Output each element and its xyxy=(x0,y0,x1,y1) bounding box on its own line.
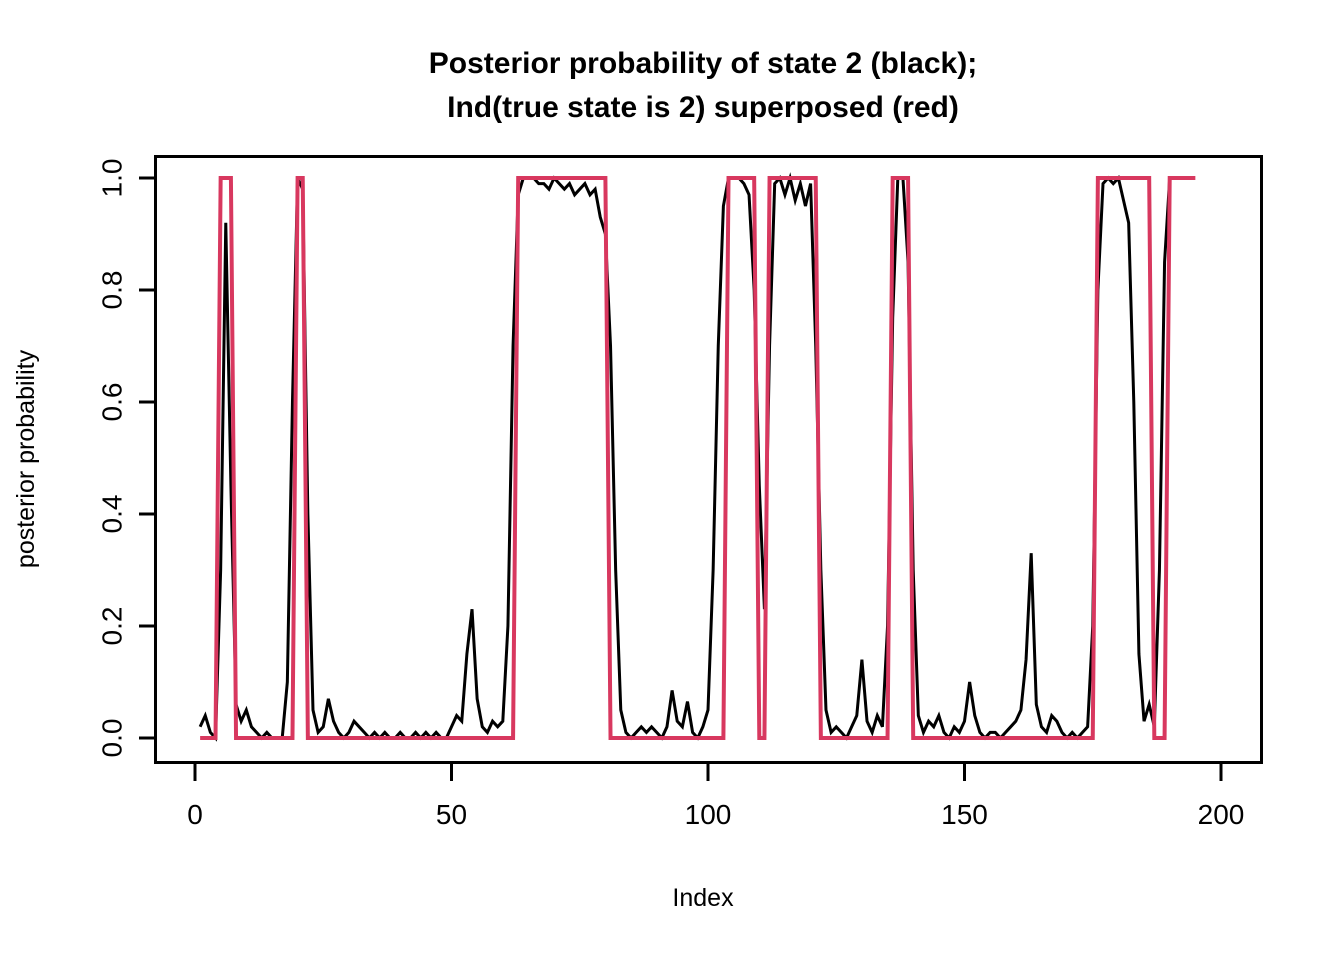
x-axis-title: Index xyxy=(672,884,734,912)
x-tick-label: 50 xyxy=(436,799,467,830)
y-tick-label: 1.0 xyxy=(97,159,128,198)
x-tick-label: 100 xyxy=(685,799,732,830)
y-axis-title: posterior probability xyxy=(12,349,40,568)
y-tick-label: 0.0 xyxy=(97,719,128,758)
y-tick-label: 0.4 xyxy=(97,495,128,534)
plot-canvas: Posterior probability of state 2 (black)… xyxy=(0,0,1344,960)
x-tick-label: 0 xyxy=(187,799,203,830)
x-tick-label: 150 xyxy=(941,799,988,830)
y-tick-label: 0.8 xyxy=(97,271,128,310)
chart-figure: Posterior probability of state 2 (black)… xyxy=(0,0,1344,960)
chart-title-line-2: Ind(true state is 2) superposed (red) xyxy=(447,91,959,124)
y-tick-label: 0.2 xyxy=(97,607,128,646)
chart-title-line-1: Posterior probability of state 2 (black)… xyxy=(429,47,977,80)
x-tick-label: 200 xyxy=(1198,799,1245,830)
y-tick-label: 0.6 xyxy=(97,383,128,422)
